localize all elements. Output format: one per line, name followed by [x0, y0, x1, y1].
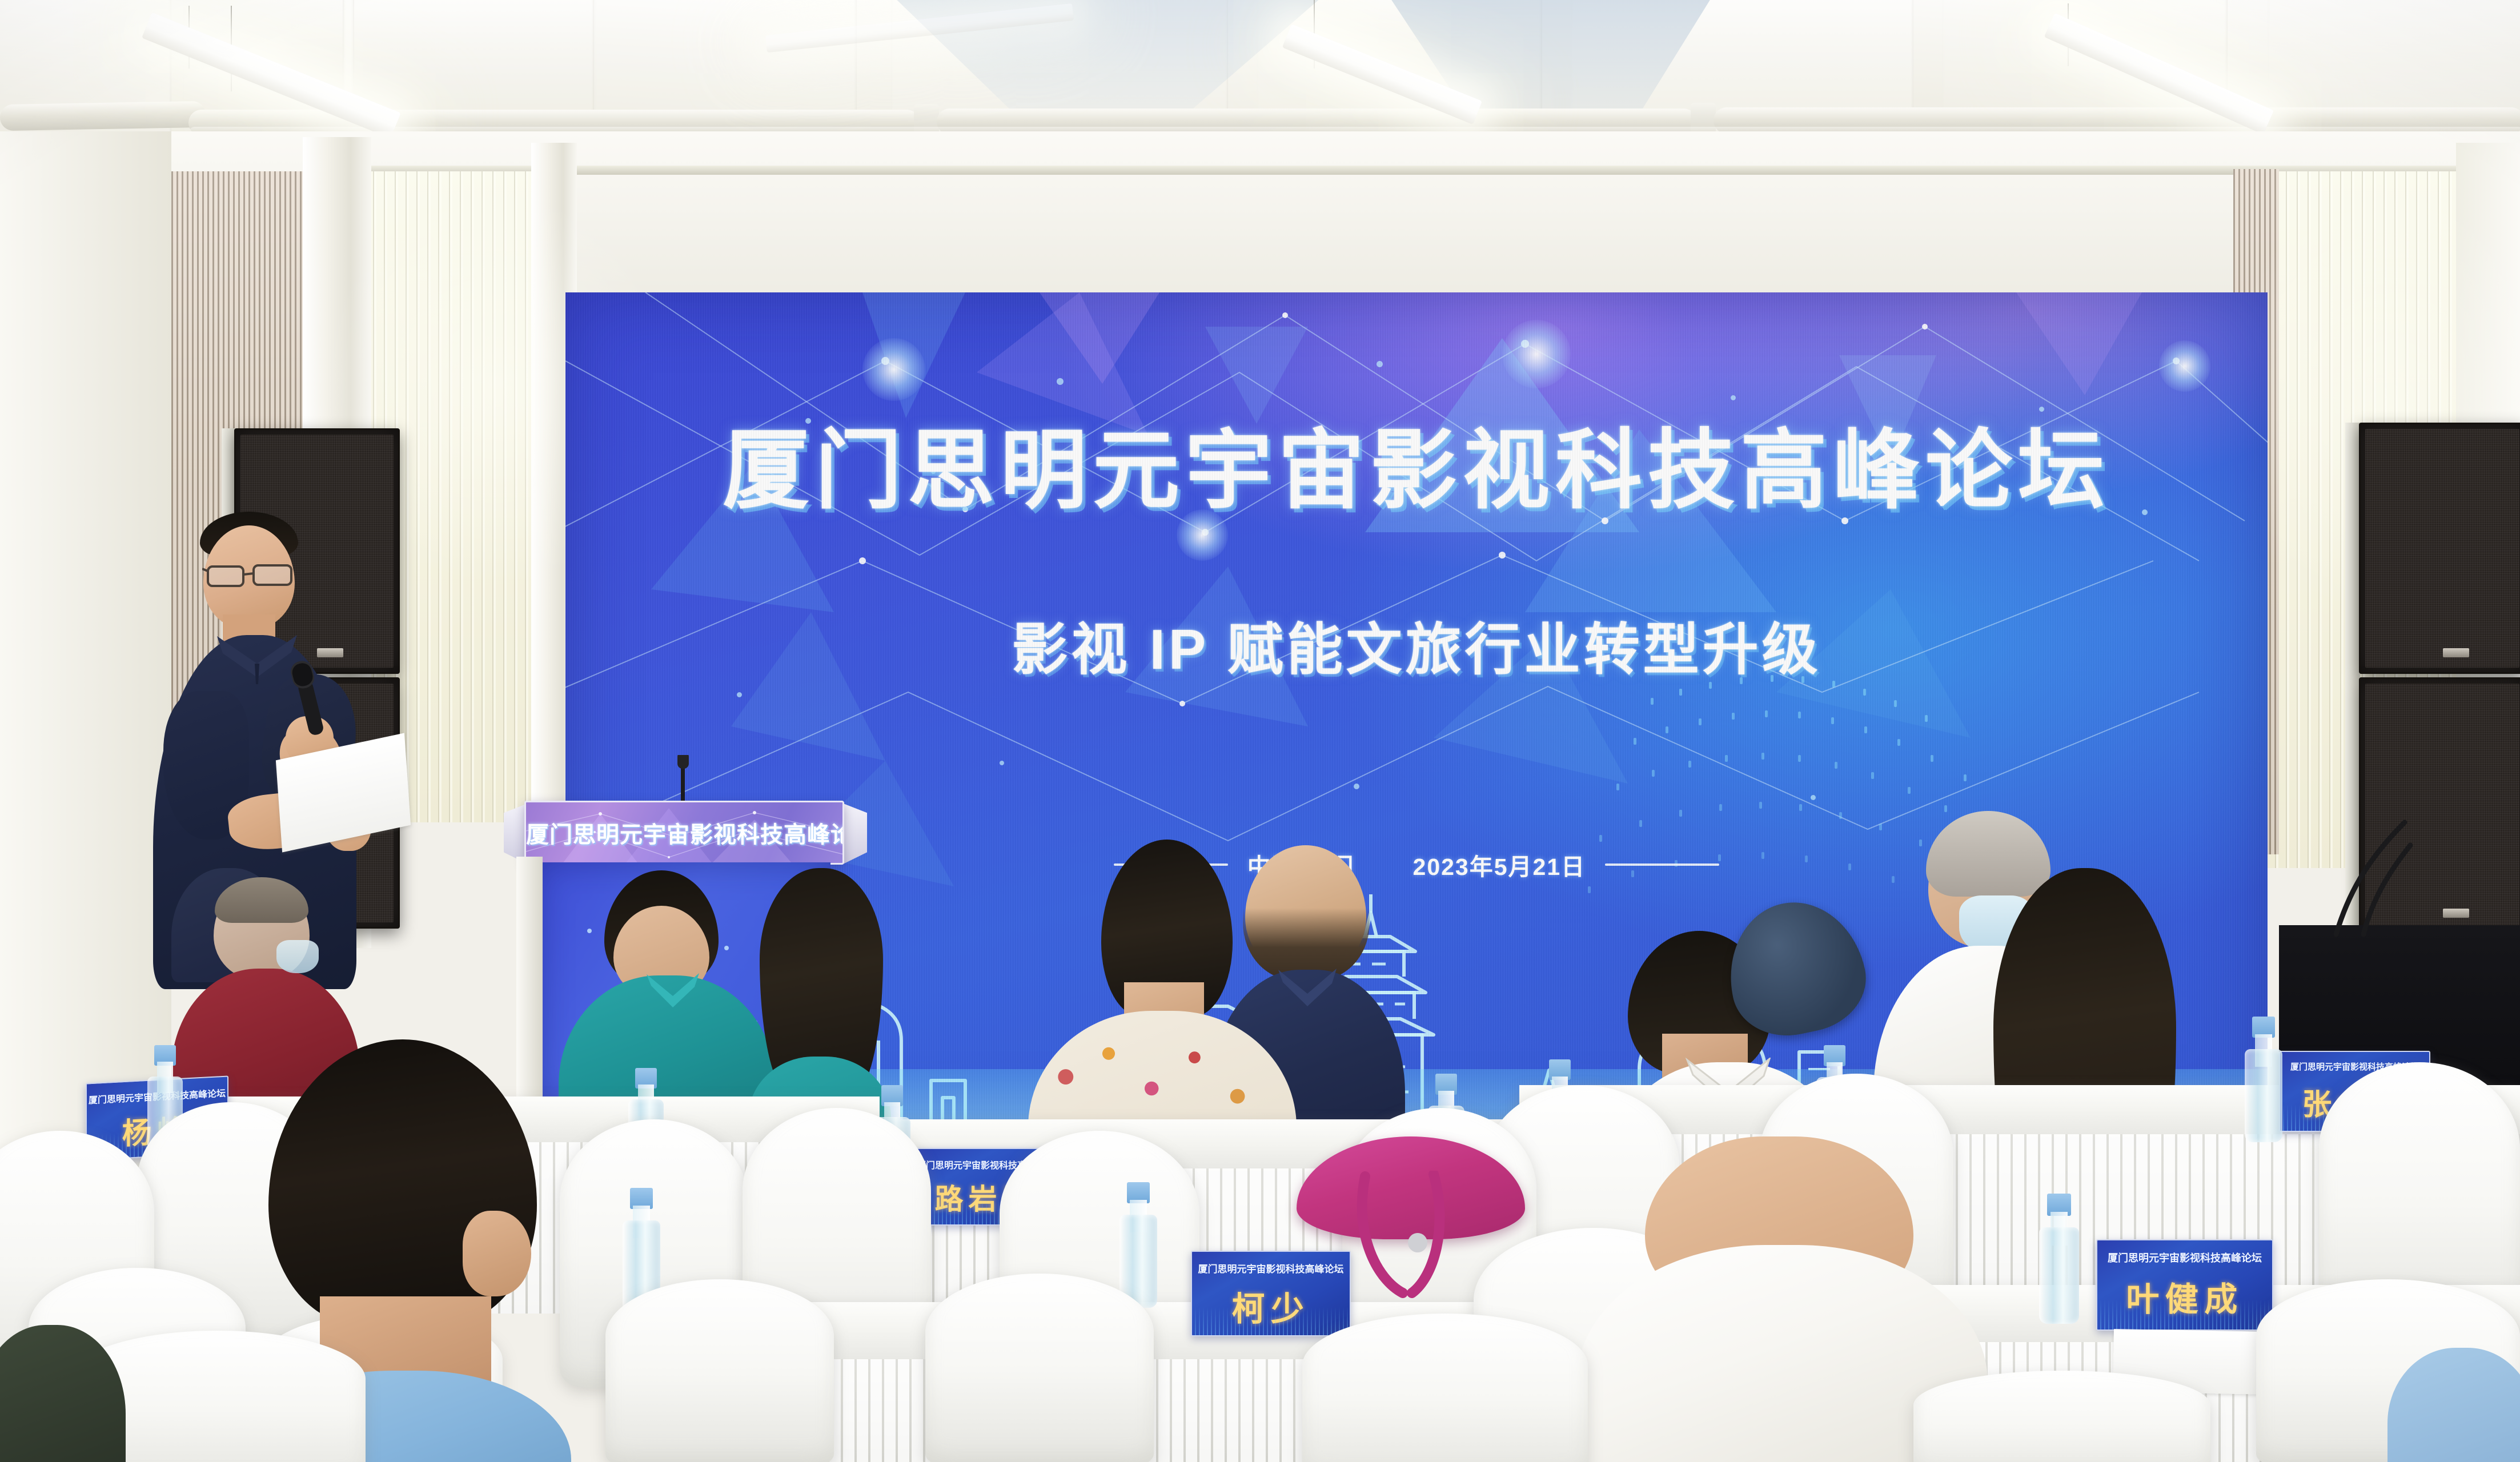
placard-skyline [1192, 1307, 1350, 1335]
placard-skyline [2097, 1299, 2272, 1330]
audience-torso [0, 1325, 126, 1462]
backdrop-dot [1057, 378, 1064, 385]
backdrop-date: 2023年5月21日 [1413, 848, 1586, 882]
glasses-icon [202, 560, 303, 592]
decorative-rule-right [1605, 863, 1719, 866]
water-bottle [1119, 1182, 1157, 1308]
backdrop-dot [1000, 761, 1004, 765]
backdrop-dot [1811, 795, 1816, 800]
podium-sign-text: 厦门思明元宇宙影视科技高峰论坛 [526, 816, 842, 849]
backdrop-node [1502, 320, 1571, 388]
placard-header: 厦门思明元宇宙影视科技高峰论坛 [2097, 1250, 2272, 1265]
name-placard: 厦门思明元宇宙影视科技高峰论坛 柯少 [1191, 1251, 1351, 1336]
podium-sign: 厦门思明元宇宙影视科技高峰论坛 [524, 801, 844, 865]
audience-hair [215, 877, 308, 923]
face-mask [276, 940, 319, 973]
audience-person-foreground [2387, 1325, 2520, 1462]
chair [1913, 1371, 2210, 1462]
conference-photo-scene: 厦门思明元宇宙影视科技高峰论坛 影视 IP 赋能文旅行业转型升级 中国·厦门 2… [0, 0, 2520, 1462]
handbag-straps [1348, 1171, 1479, 1314]
water-bottle [2245, 1017, 2282, 1142]
backdrop-subtitle: 影视 IP 赋能文旅行业转型升级 [565, 604, 2268, 685]
water-bottle [2039, 1194, 2079, 1324]
name-placard: 厦门思明元宇宙影视科技高峰论坛 叶健成 [2096, 1239, 2273, 1331]
pa-speaker-cabinet [2359, 423, 2520, 674]
audience-ear [463, 1211, 531, 1296]
backdrop-title: 厦门思明元宇宙影视科技高峰论坛 [565, 400, 2268, 525]
backdrop-dot [1377, 361, 1383, 367]
audience-person-foreground [0, 1325, 126, 1462]
podium-side-panel [842, 803, 867, 865]
pa-speaker-badge [2443, 909, 2469, 918]
chair [1302, 1314, 1588, 1462]
speaker-cables [2330, 811, 2422, 942]
chair [925, 1274, 1154, 1462]
backdrop-dot [1354, 784, 1359, 789]
placard-header: 厦门思明元宇宙影视科技高峰论坛 [1192, 1261, 1350, 1275]
blind-rail [366, 166, 2520, 175]
backdrop-dot [737, 692, 742, 697]
audience-torso [2387, 1348, 2520, 1462]
polo-collar [639, 972, 707, 1012]
backdrop-node [2159, 340, 2210, 392]
pa-speaker-badge [2443, 648, 2469, 657]
backdrop-node [862, 338, 925, 401]
ceiling-duct [0, 101, 206, 131]
chair [605, 1279, 834, 1462]
